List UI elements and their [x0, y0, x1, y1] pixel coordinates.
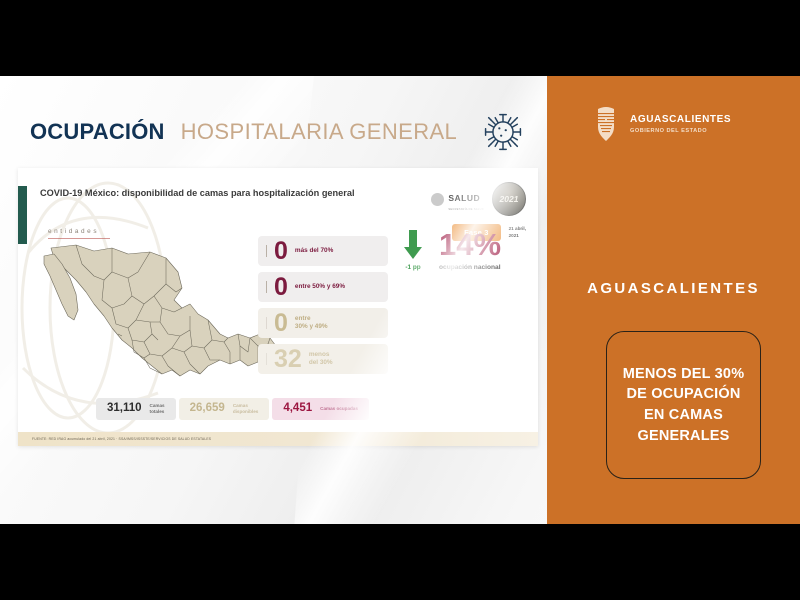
bed-label: Camas ocupadas	[320, 406, 358, 412]
state-panel: AGUASCALIENTES GOBIERNO DEL ESTADO AGUAS…	[547, 76, 800, 524]
stat-row: 0 entre 50% y 69%	[258, 272, 388, 302]
letterbox-bottom	[0, 524, 800, 600]
coat-of-arms-icon	[591, 106, 621, 142]
page-title: OCUPACIÓN HOSPITALARIA GENERAL	[30, 110, 525, 154]
stat-label: entre 30% y 49%	[295, 315, 328, 330]
trend-group: -1 pp	[403, 230, 423, 271]
slide-date: 21 abril, 2021	[509, 226, 526, 238]
bed-label: Camas totales	[150, 403, 165, 415]
stat-value: 0	[274, 239, 288, 264]
trend-value: -1 pp	[405, 264, 420, 271]
stat-value: 32	[274, 347, 302, 372]
slide-accent-tab	[18, 186, 27, 244]
bed-total-item: 26,659 Camas disponibles	[179, 398, 270, 420]
coronavirus-icon	[481, 110, 525, 154]
stat-label: más del 70%	[295, 247, 333, 255]
entidades-group: entidades	[48, 228, 110, 239]
bed-total-item: 4,451 Camas ocupadas	[272, 398, 369, 420]
screenshot-stage: OCUPACIÓN HOSPITALARIA GENERAL	[0, 0, 800, 600]
stat-value: 0	[274, 311, 288, 336]
state-name: AGUASCALIENTES	[547, 280, 800, 297]
national-percent: 14%	[439, 230, 501, 259]
salud-logo: SALUD SECRETARÍA DE SALUD	[431, 188, 484, 211]
government-logo: AGUASCALIENTES GOBIERNO DEL ESTADO	[591, 106, 731, 142]
page-title-light: HOSPITALARIA GENERAL	[181, 119, 458, 145]
entidades-label: entidades	[48, 228, 110, 235]
national-percent-label: ocupación nacional	[439, 264, 501, 271]
status-message-box: MENOS DEL 30% DE OCUPACIÓN EN CAMAS GENE…	[606, 331, 761, 479]
bed-number: 4,451	[283, 403, 312, 415]
bed-label: Camas disponibles	[233, 403, 259, 415]
year-seal: 2021	[492, 182, 526, 216]
stat-row: 32 menos del 30%	[258, 344, 388, 374]
stat-label: menos del 30%	[309, 351, 333, 366]
stat-rows: 0 más del 70% 0 entre 50% y 69% 0 entre …	[258, 236, 388, 380]
bed-number: 31,110	[107, 403, 142, 415]
stat-value: 0	[274, 275, 288, 300]
stat-row: 0 entre 30% y 49%	[258, 308, 388, 338]
bed-number: 26,659	[190, 403, 225, 415]
arrow-down-icon	[403, 230, 423, 260]
eagle-icon	[431, 193, 444, 206]
covid-slide-card: COVID-19 México: disponibilidad de camas…	[18, 168, 538, 446]
salud-sublabel: SECRETARÍA DE SALUD	[448, 208, 484, 211]
row-tick-icon	[266, 245, 267, 257]
salud-label: SALUD	[448, 193, 480, 203]
row-tick-icon	[266, 317, 267, 329]
slide-source-footer: FUENTE: RED IRAG acumulado del 21 abril,…	[18, 432, 538, 446]
bed-total-item: 31,110 Camas totales	[96, 398, 176, 420]
entidades-rule	[48, 238, 110, 239]
bed-totals: 31,110 Camas totales 26,659 Camas dispon…	[96, 398, 369, 420]
stat-row: 0 más del 70%	[258, 236, 388, 266]
stat-label: entre 50% y 69%	[295, 283, 345, 291]
source-text: FUENTE: RED IRAG acumulado del 21 abril,…	[32, 437, 211, 441]
slide-title: COVID-19 México: disponibilidad de camas…	[40, 188, 360, 200]
letterbox-top	[0, 0, 800, 76]
row-tick-icon	[266, 353, 267, 365]
row-tick-icon	[266, 281, 267, 293]
national-occupancy: -1 pp 14% ocupación nacional	[403, 230, 501, 271]
government-logo-subtitle: GOBIERNO DEL ESTADO	[630, 128, 731, 134]
percent-group: 14% ocupación nacional	[439, 230, 501, 271]
page-title-bold: OCUPACIÓN	[30, 119, 165, 145]
government-logo-title: AGUASCALIENTES	[630, 115, 731, 125]
slide-logos: SALUD SECRETARÍA DE SALUD 2021	[431, 182, 526, 216]
status-message: MENOS DEL 30% DE OCUPACIÓN EN CAMAS GENE…	[615, 364, 752, 446]
mexico-map	[32, 242, 294, 404]
